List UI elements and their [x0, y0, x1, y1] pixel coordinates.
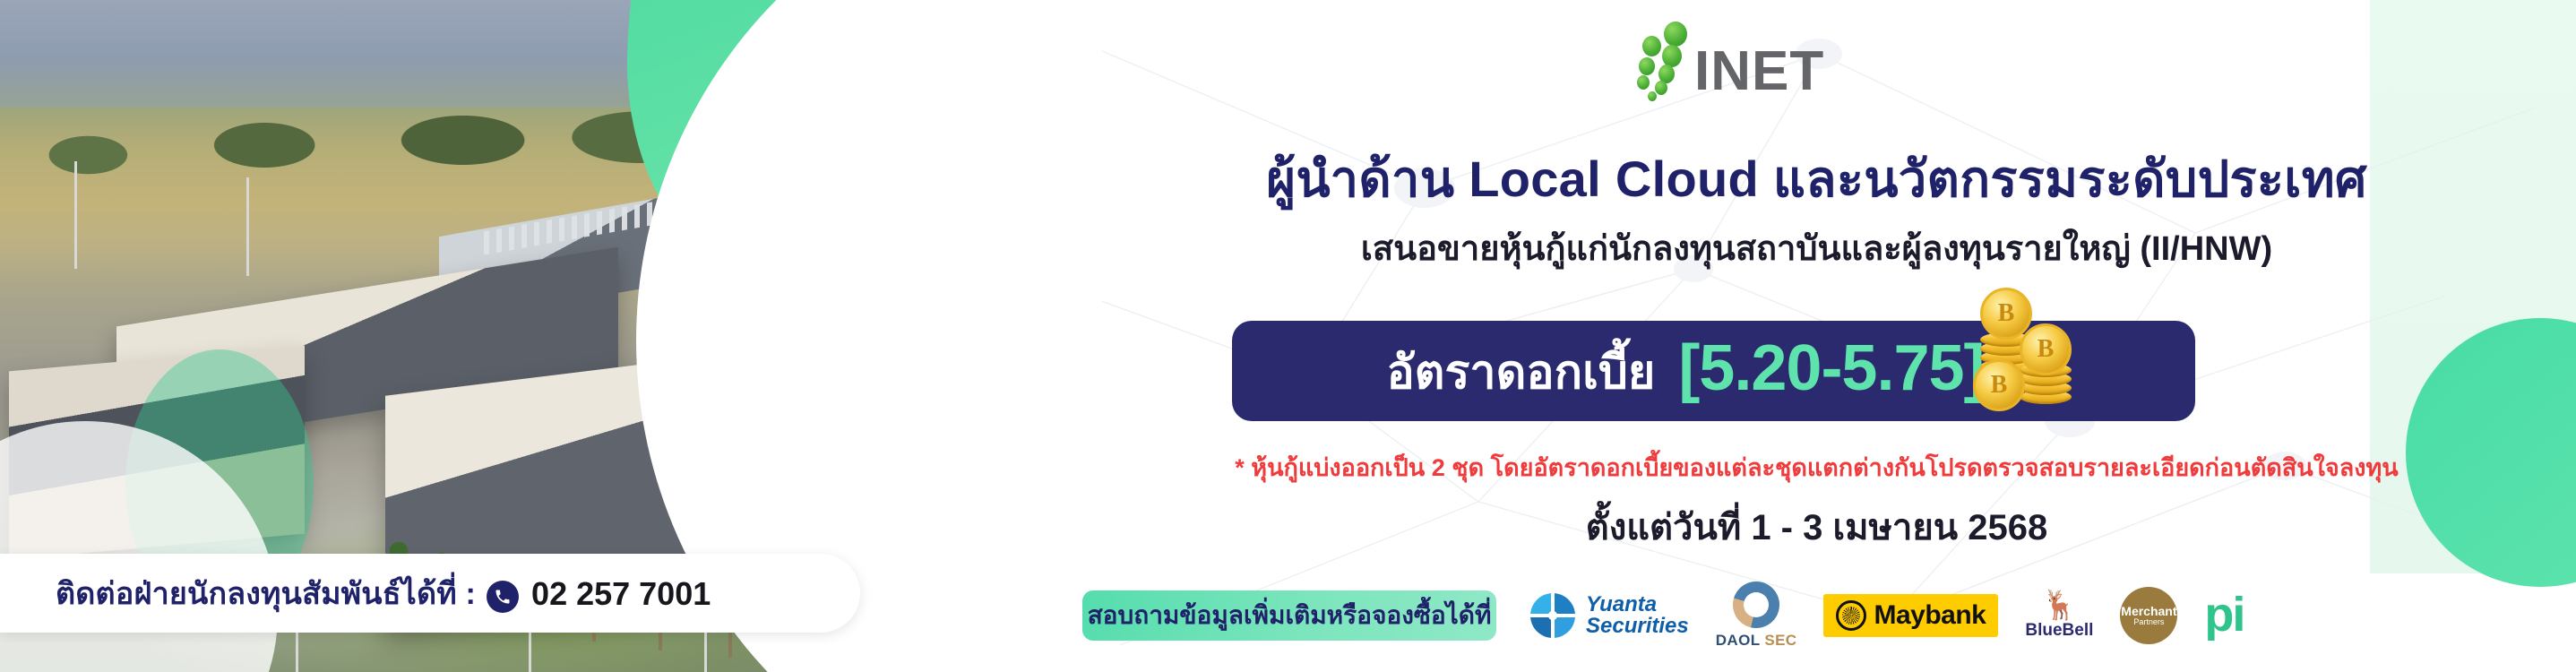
partner-logo-daol[interactable]: DAOL SEC — [1716, 582, 1797, 649]
bluebell-deer-icon: 🦌 — [2041, 590, 2077, 619]
inet-logo: INET — [1635, 20, 1824, 97]
utility-pole — [74, 161, 77, 269]
merchant-partners-mark-icon: Merchant Partners — [2120, 587, 2177, 644]
partner-logo-merchant-partners[interactable]: Merchant Partners — [2120, 582, 2177, 649]
page-subtitle: เสนอขายหุ้นกู้แก่นักลงทุนสถาบันและผู้ลงท… — [1057, 220, 2576, 275]
maybank-tiger-icon — [1836, 600, 1866, 631]
daol-mark-icon — [1733, 582, 1779, 628]
partner-logo-bluebell[interactable]: 🦌 BlueBell — [2025, 582, 2093, 649]
partner-logo-yuanta[interactable]: Yuanta Securities — [1530, 582, 1689, 649]
light-pole — [296, 632, 298, 672]
gold-coin-stack-icon: B B B — [1973, 291, 2089, 412]
partner-logos: Yuanta Securities DAOL SEC — [1530, 582, 2244, 649]
investor-relations-contact[interactable]: ติดต่อฝ่ายนักลงทุนสัมพันธ์ได้ที่ : 02 25… — [0, 554, 860, 633]
inet-bond-offering-banner: ติดต่อฝ่ายนักลงทุนสัมพันธ์ได้ที่ : 02 25… — [0, 0, 2576, 672]
pi-mark-icon: pi — [2204, 596, 2244, 634]
yuanta-label-line1: Yuanta — [1586, 594, 1689, 616]
inet-logo-wordmark: INET — [1694, 46, 1824, 97]
maybank-label: Maybank — [1874, 600, 1986, 631]
light-pole — [529, 627, 531, 672]
merchant-label-line2: Partners — [2133, 618, 2164, 626]
offering-dates: ตั้งแต่วันที่ 1 - 3 เมษายน 2568 — [1057, 498, 2576, 556]
partner-logo-maybank[interactable]: Maybank — [1823, 582, 1998, 649]
contact-label: ติดต่อฝ่ายนักลงทุนสัมพันธ์ได้ที่ : — [56, 569, 476, 617]
partner-logo-pi[interactable]: pi — [2204, 582, 2244, 649]
content-column: INET ผู้นำด้าน Local Cloud และนวัตกรรมระ… — [1057, 0, 2576, 672]
merchant-label-line1: Merchant — [2121, 605, 2176, 618]
contact-phone-number: 02 257 7001 — [531, 575, 711, 613]
daol-label-line2: SEC — [1764, 632, 1796, 649]
page-title: ผู้นำด้าน Local Cloud และนวัตกรรมระดับปร… — [1057, 139, 2576, 219]
interest-rate-label: อัตราดอกเบี้ย — [1386, 334, 1655, 409]
disclaimer-text: * หุ้นกู้แบ่งออกเป็น 2 ชุด โดยอัตราดอกเบ… — [1057, 448, 2576, 487]
daol-label-line1: DAOL — [1716, 632, 1760, 649]
phone-icon — [487, 581, 519, 613]
bottom-bar: สอบถามข้อมูลเพิ่มเติมหรือจองซื้อได้ที่ Y… — [1057, 581, 2576, 650]
yuanta-label-line2: Securities — [1586, 616, 1689, 637]
more-info-button[interactable]: สอบถามข้อมูลเพิ่มเติมหรือจองซื้อได้ที่ — [1082, 590, 1496, 641]
yuanta-mark-icon — [1530, 593, 1575, 638]
inet-green-dots-logo-icon — [1635, 20, 1691, 97]
utility-pole — [246, 177, 249, 276]
bluebell-label: BlueBell — [2025, 621, 2093, 641]
